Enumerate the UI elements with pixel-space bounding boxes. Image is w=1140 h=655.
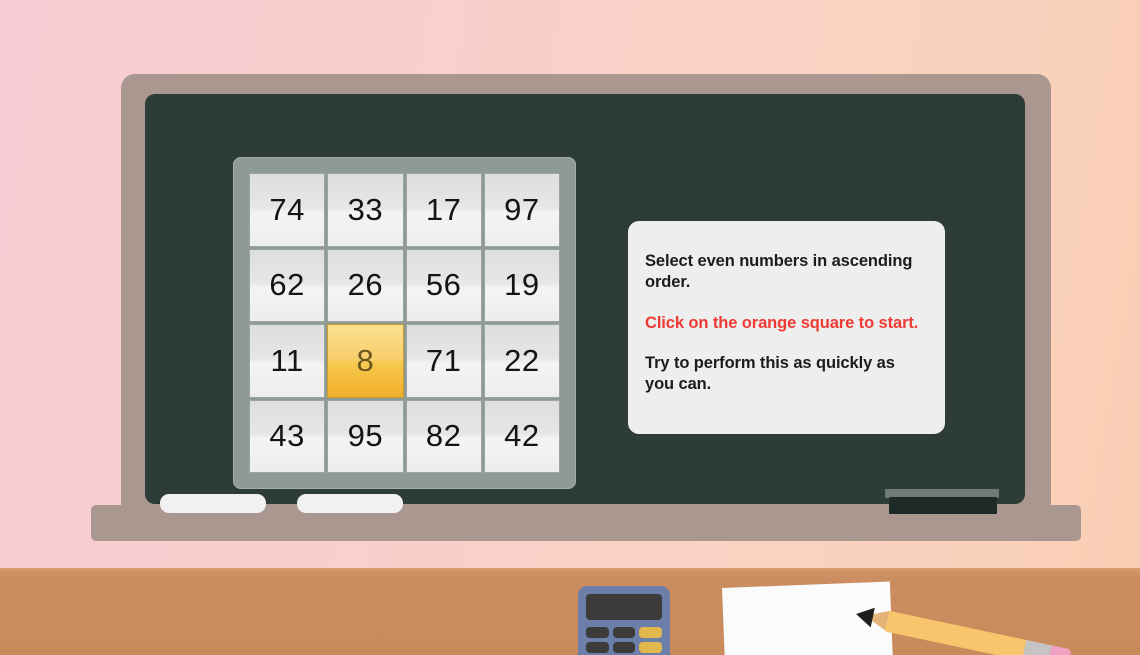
scene-root: 74 33 17 97 62 26 56 19 11 8 71 22 43 95… — [0, 0, 1140, 655]
chalk-icon[interactable] — [160, 494, 266, 513]
desk-edge — [0, 568, 1140, 571]
calculator-key[interactable] — [613, 642, 636, 653]
grid-cell[interactable]: 42 — [484, 400, 560, 474]
calculator-key-amber[interactable] — [639, 642, 662, 653]
number-grid: 74 33 17 97 62 26 56 19 11 8 71 22 43 95… — [249, 173, 560, 473]
calculator-keypad[interactable] — [586, 627, 662, 655]
grid-cell[interactable]: 82 — [406, 400, 482, 474]
instruction-line-speed: Try to perform this as quickly as you ca… — [645, 353, 919, 395]
grid-cell[interactable]: 74 — [249, 173, 325, 247]
calculator-key[interactable] — [586, 627, 609, 638]
grid-cell[interactable]: 71 — [406, 324, 482, 398]
grid-cell[interactable]: 19 — [484, 249, 560, 323]
grid-cell[interactable]: 22 — [484, 324, 560, 398]
calculator-key-amber[interactable] — [639, 627, 662, 638]
grid-cell[interactable]: 62 — [249, 249, 325, 323]
chalk-icon[interactable] — [297, 494, 403, 513]
grid-cell[interactable]: 43 — [249, 400, 325, 474]
grid-cell[interactable]: 33 — [327, 173, 403, 247]
calculator-key[interactable] — [586, 642, 609, 653]
eraser-body-icon[interactable] — [889, 497, 997, 514]
number-grid-panel: 74 33 17 97 62 26 56 19 11 8 71 22 43 95… — [233, 157, 576, 489]
instruction-card: Select even numbers in ascending order. … — [628, 221, 945, 434]
grid-cell[interactable]: 56 — [406, 249, 482, 323]
grid-cell-highlighted[interactable]: 8 — [327, 324, 403, 398]
calculator-key[interactable] — [613, 627, 636, 638]
grid-cell[interactable]: 95 — [327, 400, 403, 474]
grid-cell[interactable]: 97 — [484, 173, 560, 247]
instruction-line-start: Click on the orange square to start. — [645, 313, 919, 334]
grid-cell[interactable]: 11 — [249, 324, 325, 398]
instruction-line-task: Select even numbers in ascending order. — [645, 251, 919, 293]
grid-cell[interactable]: 26 — [327, 249, 403, 323]
calculator-screen — [586, 594, 662, 620]
calculator-icon[interactable] — [578, 586, 670, 655]
grid-cell[interactable]: 17 — [406, 173, 482, 247]
